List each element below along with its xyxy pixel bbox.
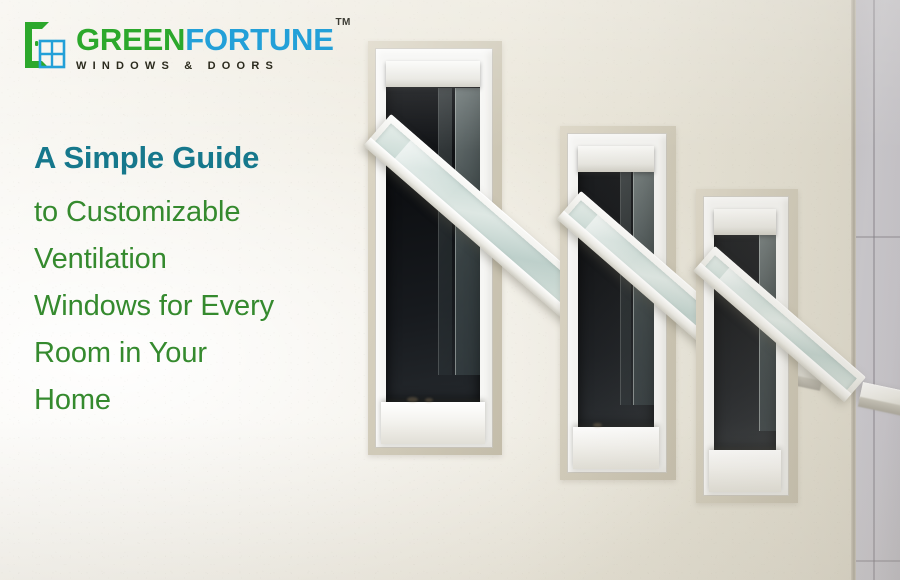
logo-text-block: GREENFORTUNE TM WINDOWS & DOORS <box>76 18 334 72</box>
logo-wordmark-blue: FORTUNE <box>185 22 333 57</box>
trademark-symbol: TM <box>335 18 350 28</box>
brand-logo[interactable]: GREENFORTUNE TM WINDOWS & DOORS <box>22 18 334 72</box>
headline-block: A Simple Guide to Customizable Ventilati… <box>34 142 364 424</box>
headline-line: Room in Your <box>34 330 364 377</box>
logo-tagline: WINDOWS & DOORS <box>76 60 334 72</box>
headline-line: to Customizable <box>34 189 364 236</box>
door-and-window-icon <box>22 19 68 71</box>
logo-wordmark: GREENFORTUNE TM <box>76 24 334 55</box>
headline-lead: A Simple Guide <box>34 142 364 173</box>
headline-body: to Customizable Ventilation Windows for … <box>34 189 364 424</box>
logo-wordmark-green: GREEN <box>76 22 185 57</box>
headline-line: Home <box>34 377 364 424</box>
headline-line: Ventilation <box>34 236 364 283</box>
headline-line: Windows for Every <box>34 283 364 330</box>
hero-banner: GREENFORTUNE TM WINDOWS & DOORS A Simple… <box>0 0 900 580</box>
